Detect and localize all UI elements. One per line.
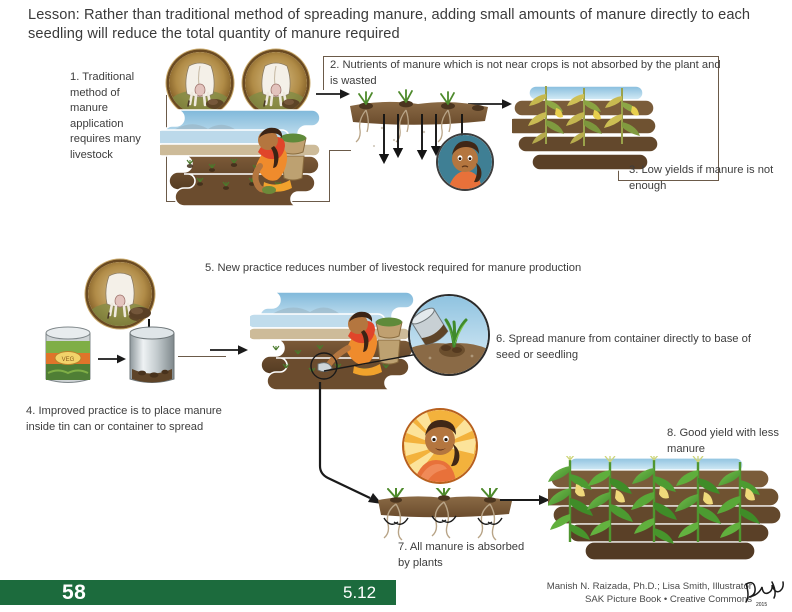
arrow-can-to-new-practice-field [210, 342, 250, 358]
signature-icon: 2015 [742, 578, 788, 608]
step-1-caption: 1. Traditional method of manure applicat… [70, 70, 158, 163]
manure-can-illustration [126, 325, 178, 387]
picture-book-page: Lesson: Rather than traditional method o… [0, 0, 792, 612]
closeup-application-vignette [410, 296, 488, 374]
step-5-caption: 5. New practice reduces number of livest… [205, 261, 635, 277]
step-8-caption: 8. Good yield with less manure [667, 426, 792, 457]
page-number: 58 [62, 581, 86, 605]
new-practice-field-illustration [250, 288, 430, 396]
connector-line-panel2-left [323, 56, 324, 90]
happy-farmer-portrait [404, 410, 476, 482]
footer-bar [0, 580, 396, 605]
credit-block: Manish N. Raizada, Ph.D.; Lisa Smith, Il… [547, 581, 752, 606]
section-number: 5.12 [343, 583, 376, 603]
page-title: Lesson: Rather than traditional method o… [28, 6, 770, 44]
step-3-caption: 3. Low yields if manure is not enough [629, 163, 779, 194]
svg-text:2015: 2015 [756, 602, 767, 608]
svg-text:VEG: VEG [62, 357, 75, 363]
food-can-illustration: VEG [42, 325, 94, 387]
traditional-field-illustration [160, 104, 335, 212]
arrow-seedlings-to-good-field [500, 492, 552, 508]
good-maize-field-illustration [548, 456, 786, 568]
arrow-can-to-manure-can [98, 352, 128, 366]
step-4-caption: 4. Improved practice is to place manure … [26, 404, 226, 435]
worried-farmer-portrait [438, 135, 492, 189]
credit-line-authors: Manish N. Raizada, Ph.D.; Lisa Smith, Il… [547, 581, 752, 594]
step-6-caption: 6. Spread manure from container directly… [496, 332, 776, 363]
step-7-caption: 7. All manure is absorbed by plants [398, 540, 538, 571]
credit-line-source: SAK Picture Book • Creative Commons [547, 594, 752, 607]
